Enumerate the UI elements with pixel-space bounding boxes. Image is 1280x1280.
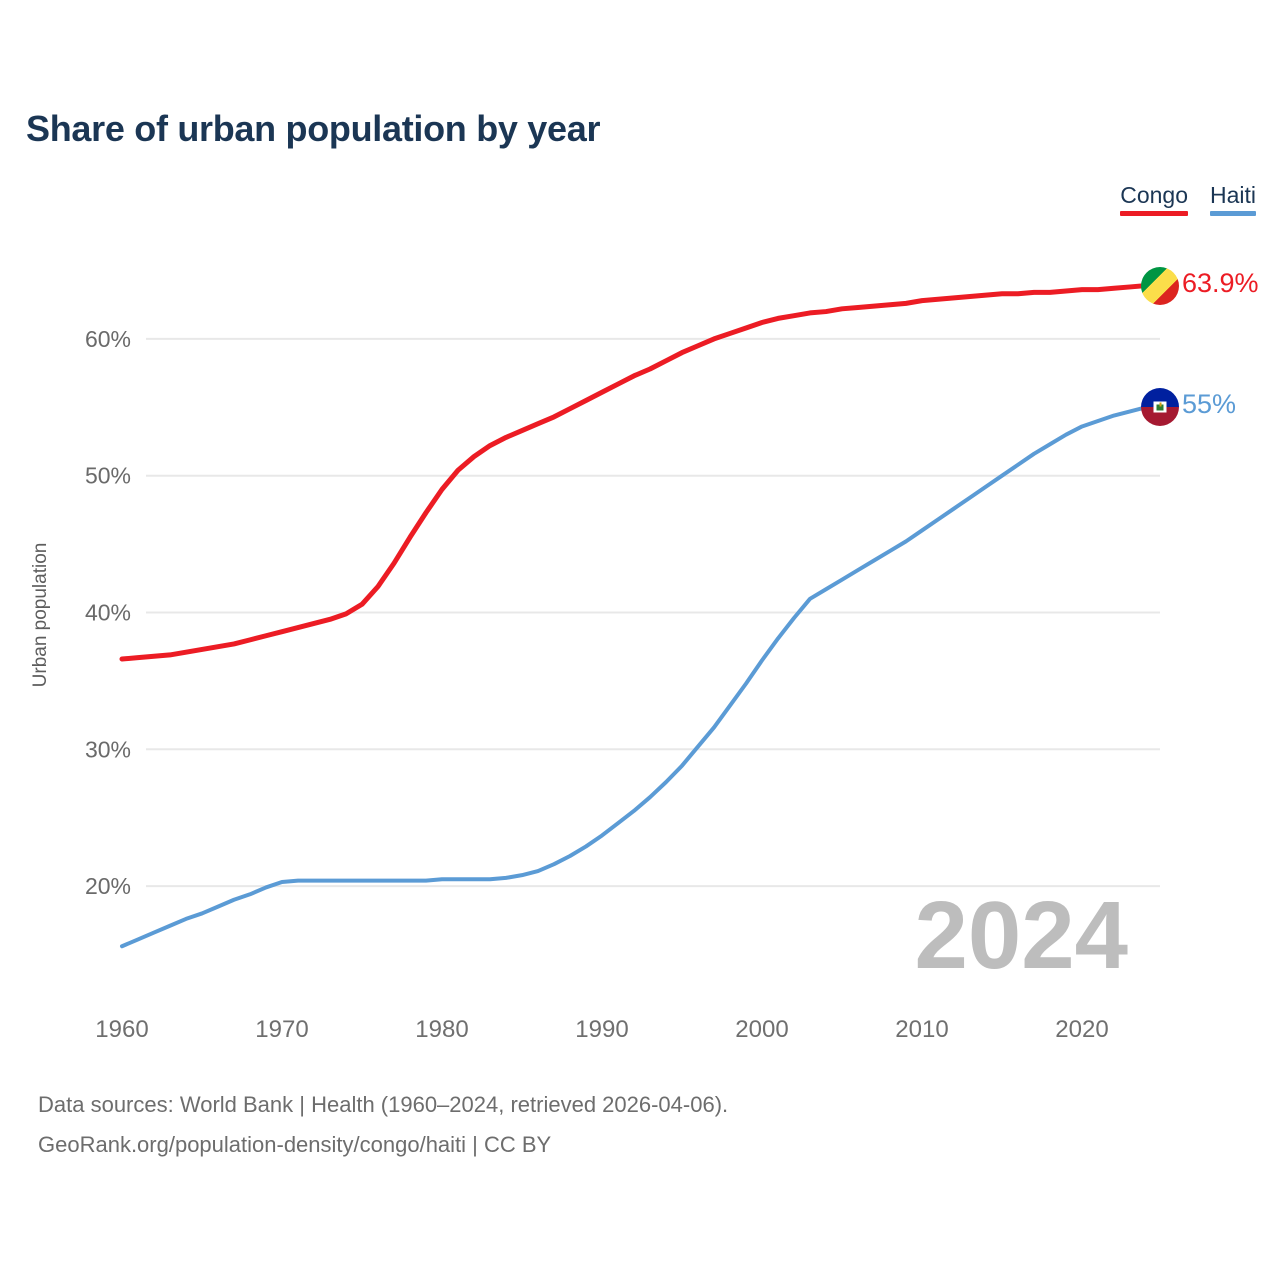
congo-endpoint-value: 63.9% [1182, 268, 1259, 299]
x-axis-tick-labels: 1960197019801990200020102020 [95, 1016, 1108, 1043]
congo-flag-icon [1141, 267, 1179, 305]
chart-container: Share of urban population by year Congo … [0, 0, 1280, 1280]
y-axis-tick-labels: 20%30%40%50%60% [85, 326, 131, 899]
x-tick-label: 1970 [255, 1016, 308, 1043]
year-watermark: 2024 [914, 888, 1128, 984]
y-tick-label: 20% [85, 873, 131, 899]
x-tick-label: 1960 [95, 1016, 148, 1043]
y-tick-label: 60% [85, 326, 131, 352]
x-tick-label: 1980 [415, 1016, 468, 1043]
y-tick-label: 50% [85, 463, 131, 489]
footer-data-sources: Data sources: World Bank | Health (1960–… [38, 1085, 728, 1125]
series-line-congo [122, 286, 1146, 659]
footer-attribution: Data sources: World Bank | Health (1960–… [38, 1085, 728, 1165]
haiti-endpoint-value: 55% [1182, 389, 1236, 420]
x-tick-label: 2010 [895, 1016, 948, 1043]
haiti-arms-detail [1157, 404, 1164, 410]
y-tick-label: 30% [85, 736, 131, 762]
chart-gridlines [146, 339, 1160, 886]
x-tick-label: 1990 [575, 1016, 628, 1043]
x-tick-label: 2020 [1055, 1016, 1108, 1043]
footer-url-license: GeoRank.org/population-density/congo/hai… [38, 1125, 728, 1165]
haiti-coat-of-arms-icon [1154, 402, 1167, 413]
y-axis-title: Urban population [30, 543, 51, 688]
chart-series-lines [122, 286, 1146, 947]
series-line-haiti [122, 407, 1146, 946]
y-tick-label: 40% [85, 600, 131, 626]
x-tick-label: 2000 [735, 1016, 788, 1043]
